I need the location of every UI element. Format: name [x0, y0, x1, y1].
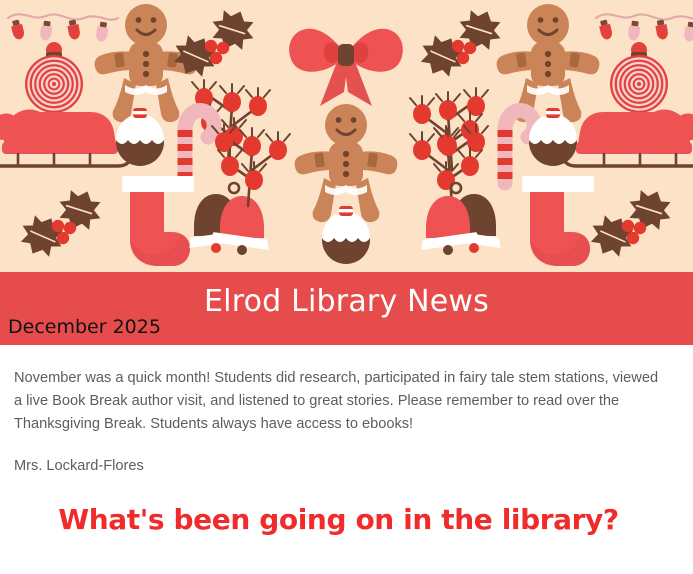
christmas-pattern-graphic — [0, 0, 693, 272]
page-title: Elrod Library News — [0, 284, 693, 319]
issue-date: December 2025 — [8, 316, 161, 338]
header-illustration — [0, 0, 693, 272]
title-banner: Elrod Library News December 2025 — [0, 272, 693, 345]
intro-paragraph: November was a quick month! Students did… — [14, 367, 663, 436]
section-heading: What's been going on in the library? — [14, 503, 663, 536]
body-section: November was a quick month! Students did… — [0, 345, 693, 536]
signature-line: Mrs. Lockard-Flores — [14, 455, 663, 478]
